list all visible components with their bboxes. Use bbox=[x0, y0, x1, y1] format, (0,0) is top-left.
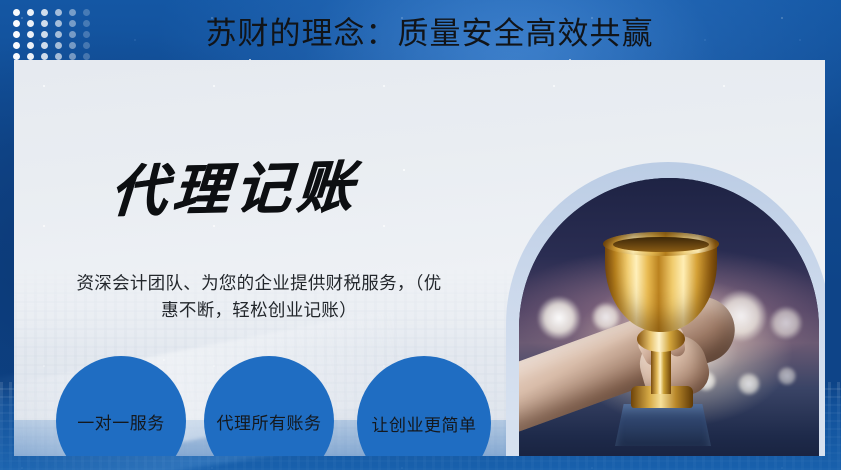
bokeh-light bbox=[737, 372, 761, 396]
page-title: 代理记账 bbox=[109, 159, 361, 220]
trophy-base bbox=[615, 404, 711, 446]
bokeh-light bbox=[769, 306, 803, 340]
trophy-rim-inner bbox=[613, 237, 709, 252]
page-subtitle: 资深会计团队、为您的企业提供财税服务，（优惠不断，轻松创业记账） bbox=[72, 270, 446, 324]
content-panel: 代理记账 资深会计团队、为您的企业提供财税服务，（优惠不断，轻松创业记账） 一对… bbox=[14, 60, 825, 456]
trophy-photo bbox=[519, 178, 819, 456]
badge-label: 让创业更简单 bbox=[372, 411, 477, 436]
slide-root: 苏财的理念：质量安全高效共赢 bbox=[0, 0, 841, 470]
slide-header-title: 苏财的理念：质量安全高效共赢 bbox=[0, 8, 841, 53]
badge-label: 代理所有账务 bbox=[217, 409, 322, 434]
badge-label: 一对一服务 bbox=[77, 409, 165, 434]
bokeh-light bbox=[777, 366, 797, 386]
bokeh-light bbox=[537, 296, 581, 340]
